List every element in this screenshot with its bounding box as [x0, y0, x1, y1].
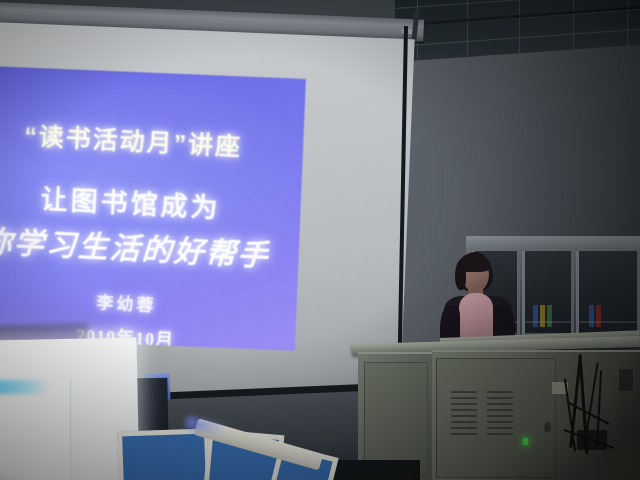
bookcase-cornice	[466, 236, 640, 249]
monitor-screen-glow	[0, 380, 50, 394]
wall-socket	[618, 368, 634, 392]
power-led-icon	[523, 438, 528, 445]
speaker-hair-side	[455, 260, 466, 290]
lectern-side-panel	[364, 362, 428, 476]
lectern-door-knob[interactable]	[544, 422, 551, 433]
lectern-front-panel	[436, 358, 556, 478]
bookcase-glass-pane	[576, 251, 640, 336]
slide-presenter-name: 李幼蓉	[0, 281, 297, 323]
bookcase-glass-pane	[522, 251, 574, 336]
partition-panel	[117, 428, 211, 480]
photo-scene: “读书活动月”讲座 让图书馆成为 你学习生活的好帮手 李幼蓉 2010年10月	[0, 0, 640, 480]
projected-slide: “读书活动月”讲座 让图书馆成为 你学习生活的好帮手 李幼蓉 2010年10月	[0, 65, 306, 351]
slide-title: “读书活动月”讲座	[0, 113, 304, 166]
